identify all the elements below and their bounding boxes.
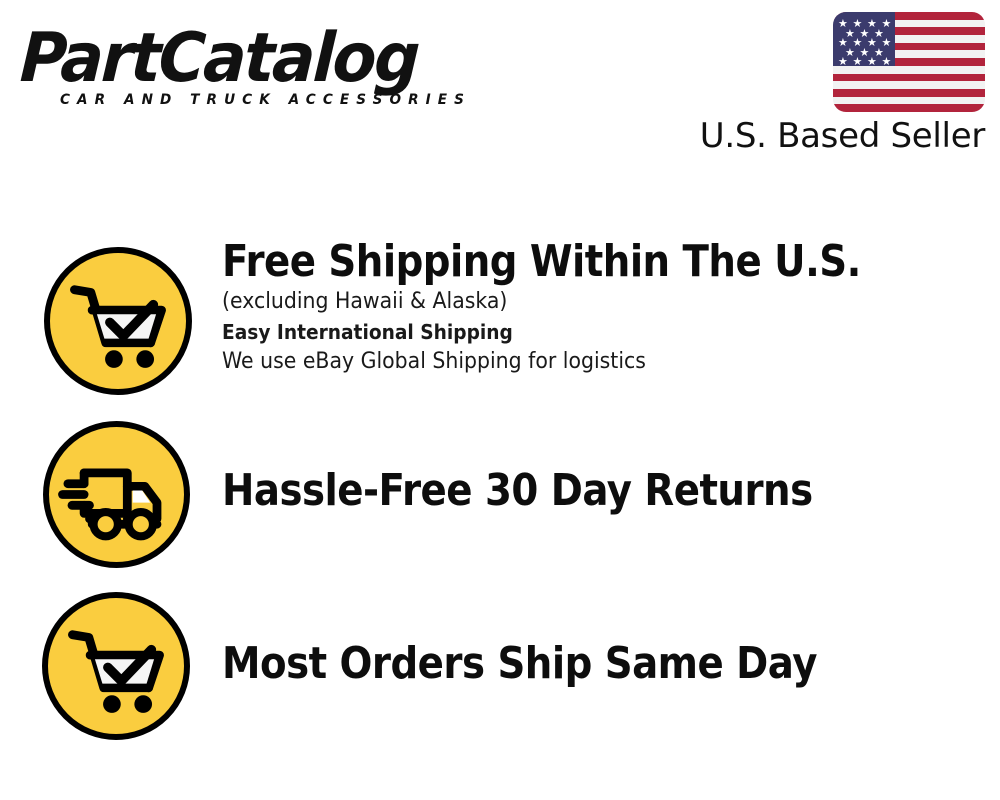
feature-title: Most Orders Ship Same Day: [222, 639, 817, 689]
feature-text-block: Free Shipping Within The U.S. (excluding…: [222, 237, 948, 377]
feature-subline-bold: Easy International Shipping: [222, 317, 897, 347]
delivery-truck-icon: [43, 421, 190, 568]
feature-title: Hassle-Free 30 Day Returns: [222, 466, 813, 516]
feature-title: Free Shipping Within The U.S.: [222, 237, 861, 287]
feature-text-block: Hassle-Free 30 Day Returns: [222, 466, 893, 516]
feature-list: Free Shipping Within The U.S. (excluding…: [0, 0, 1000, 800]
feature-subline: (excluding Hawaii & Alaska): [222, 287, 897, 317]
shopping-cart-check-icon: [42, 592, 190, 740]
feature-text-block: Most Orders Ship Same Day: [222, 639, 898, 689]
shopping-cart-check-icon: [44, 247, 192, 395]
feature-subline: We use eBay Global Shipping for logistic…: [222, 347, 897, 377]
